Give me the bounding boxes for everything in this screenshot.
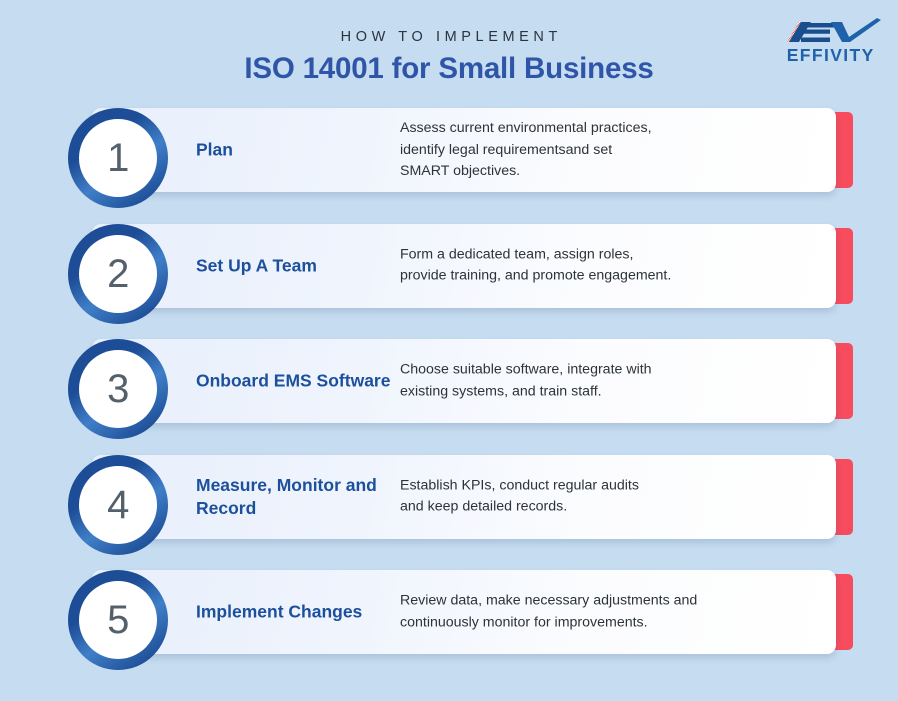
step-card[interactable]: Measure, Monitor and Record Establish KP…	[92, 455, 836, 539]
step-description: Establish KPIs, conduct regular audits a…	[400, 475, 818, 518]
step-title: Measure, Monitor and Record	[196, 474, 392, 520]
page-header: HOW TO IMPLEMENT ISO 14001 for Small Bus…	[0, 0, 898, 100]
step-item[interactable]: Plan Assess current environmental practi…	[0, 100, 898, 216]
step-number-badge-inner: 1	[79, 119, 157, 197]
step-number-badge-inner: 3	[79, 350, 157, 428]
step-card[interactable]: Implement Changes Review data, make nece…	[92, 570, 836, 654]
step-number-badge: 4	[68, 455, 168, 555]
step-card[interactable]: Set Up A Team Form a dedicated team, ass…	[92, 224, 836, 308]
logo-wordmark: EFFIVITY	[775, 45, 885, 66]
step-card[interactable]: Onboard EMS Software Choose suitable sof…	[92, 339, 836, 423]
step-number-badge: 3	[68, 339, 168, 439]
step-item[interactable]: Measure, Monitor and Record Establish KP…	[0, 447, 898, 563]
brand-logo[interactable]: EFFIVITY	[775, 18, 885, 70]
step-description: Choose suitable software, integrate with…	[400, 360, 818, 403]
step-number-badge-inner: 2	[79, 235, 157, 313]
step-number: 5	[107, 600, 129, 640]
step-title: Implement Changes	[196, 601, 392, 624]
step-title: Plan	[196, 139, 392, 162]
step-number: 3	[107, 369, 129, 409]
step-card[interactable]: Plan Assess current environmental practi…	[92, 108, 836, 192]
effivity-ev-logo-icon	[779, 18, 883, 44]
step-number-badge-inner: 5	[79, 581, 157, 659]
eyebrow-text: HOW TO IMPLEMENT	[0, 29, 898, 45]
step-title: Set Up A Team	[196, 254, 392, 277]
step-number: 2	[107, 254, 129, 294]
step-description: Form a dedicated team, assign roles, pro…	[400, 244, 818, 287]
steps-list: Plan Assess current environmental practi…	[0, 100, 898, 678]
page-title: ISO 14001 for Small Business	[0, 52, 898, 86]
step-number-badge: 1	[68, 108, 168, 208]
step-description: Assess current environmental practices, …	[400, 118, 818, 183]
step-number: 1	[107, 138, 129, 178]
step-number-badge: 5	[68, 570, 168, 670]
step-item[interactable]: Implement Changes Review data, make nece…	[0, 562, 898, 678]
step-number-badge: 2	[68, 224, 168, 324]
step-item[interactable]: Set Up A Team Form a dedicated team, ass…	[0, 216, 898, 332]
step-description: Review data, make necessary adjustments …	[400, 591, 818, 634]
step-title: Onboard EMS Software	[196, 370, 392, 393]
step-number-badge-inner: 4	[79, 466, 157, 544]
step-item[interactable]: Onboard EMS Software Choose suitable sof…	[0, 331, 898, 447]
step-number: 4	[107, 485, 129, 525]
